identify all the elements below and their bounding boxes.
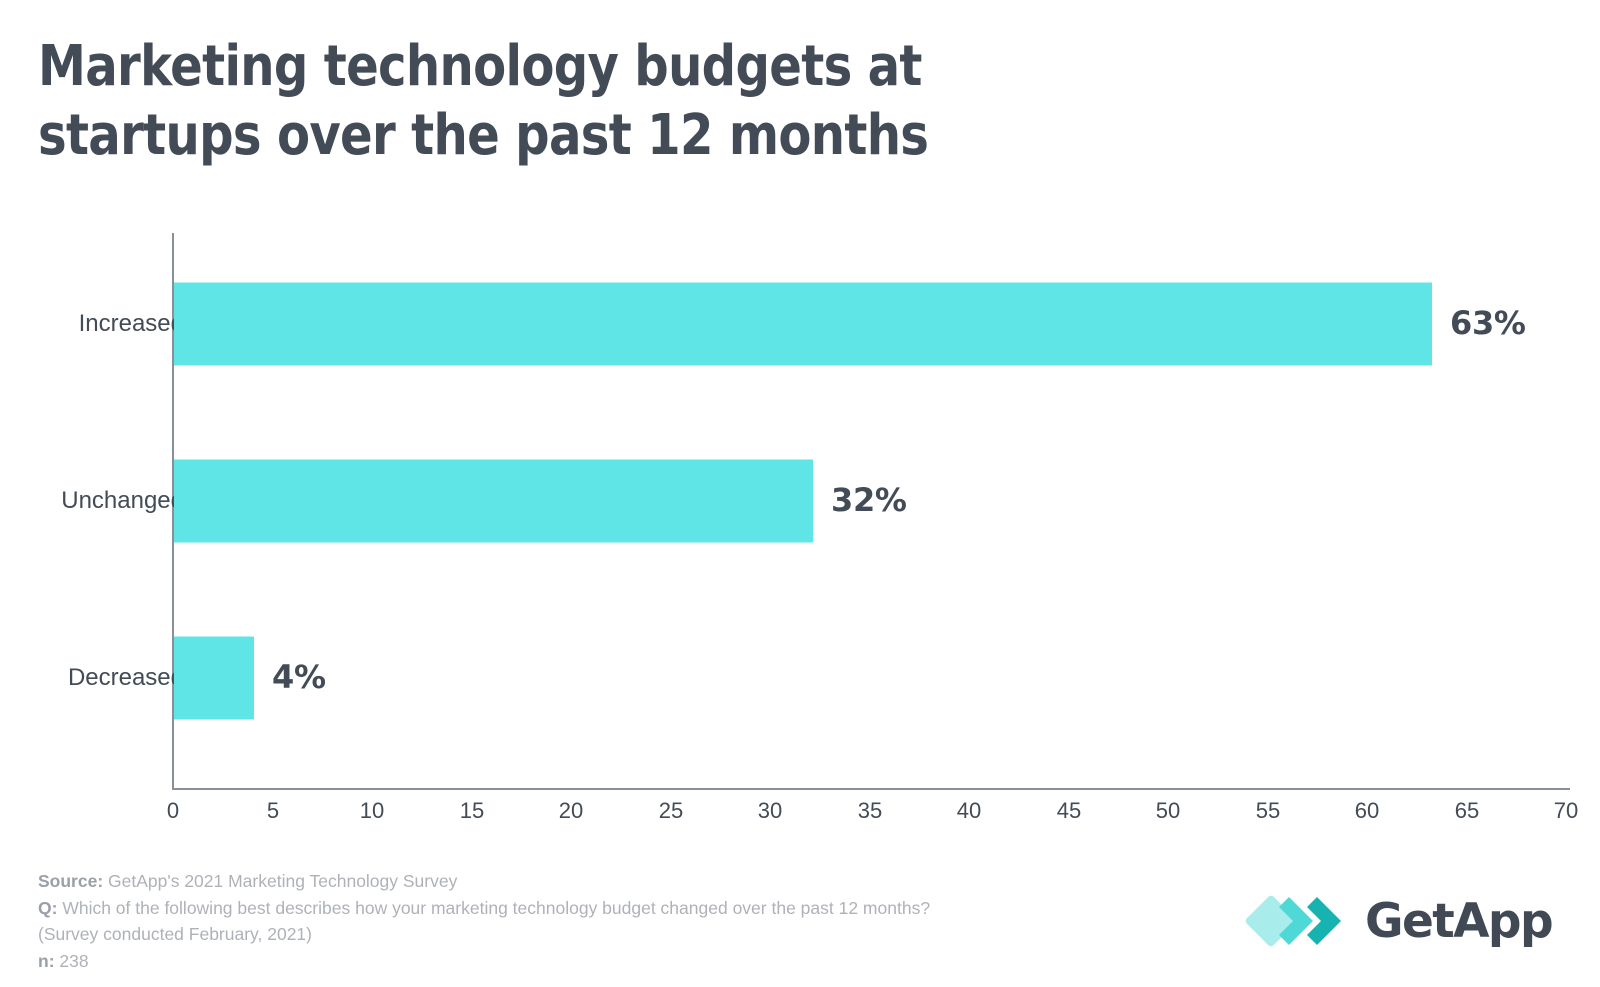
- x-tick-70: 70: [1554, 798, 1578, 824]
- x-tick-40: 40: [957, 798, 981, 824]
- footer-source-text: GetApp's 2021 Marketing Technology Surve…: [103, 871, 457, 891]
- x-tick-65: 65: [1455, 798, 1479, 824]
- x-tick-60: 60: [1355, 798, 1379, 824]
- x-axis-line: [172, 788, 1570, 790]
- getapp-logo: GetApp: [1243, 893, 1552, 954]
- getapp-chevron-mark-icon: [1243, 893, 1355, 954]
- footer-source-label: Source:: [38, 871, 103, 891]
- footer-survey-note: (Survey conducted February, 2021): [38, 921, 930, 948]
- footer-question-label: Q:: [38, 898, 57, 918]
- x-tick-30: 30: [758, 798, 782, 824]
- footer-n-row: n: 238: [38, 948, 930, 975]
- footer-question-row: Q: Which of the following best describes…: [38, 895, 930, 922]
- bar-unchanged: [174, 460, 813, 543]
- x-tick-35: 35: [858, 798, 882, 824]
- bar-chart: Increased Unchanged Decreased 63% 32% 4%…: [0, 0, 1600, 810]
- footer-n-value: 238: [55, 951, 89, 971]
- x-tick-50: 50: [1156, 798, 1180, 824]
- x-tick-25: 25: [659, 798, 683, 824]
- x-tick-0: 0: [167, 798, 179, 824]
- x-tick-10: 10: [360, 798, 384, 824]
- x-tick-55: 55: [1256, 798, 1280, 824]
- footer-source-row: Source: GetApp's 2021 Marketing Technolo…: [38, 868, 930, 895]
- x-tick-45: 45: [1057, 798, 1081, 824]
- x-tick-20: 20: [559, 798, 583, 824]
- bar-value-increased: 63%: [1450, 304, 1526, 342]
- footer-question-text: Which of the following best describes ho…: [57, 898, 930, 918]
- footer-notes: Source: GetApp's 2021 Marketing Technolo…: [38, 868, 930, 974]
- bar-value-unchanged: 32%: [831, 481, 907, 519]
- x-tick-5: 5: [267, 798, 279, 824]
- bar-decreased: [174, 637, 254, 720]
- getapp-logo-text: GetApp: [1365, 898, 1552, 945]
- bar-value-decreased: 4%: [272, 658, 326, 696]
- x-tick-15: 15: [460, 798, 484, 824]
- category-label-increased: Increased: [0, 310, 184, 338]
- category-label-decreased: Decreased: [0, 664, 184, 692]
- bar-increased: [174, 283, 1432, 366]
- category-label-unchanged: Unchanged: [0, 487, 184, 515]
- footer-n-label: n:: [38, 951, 55, 971]
